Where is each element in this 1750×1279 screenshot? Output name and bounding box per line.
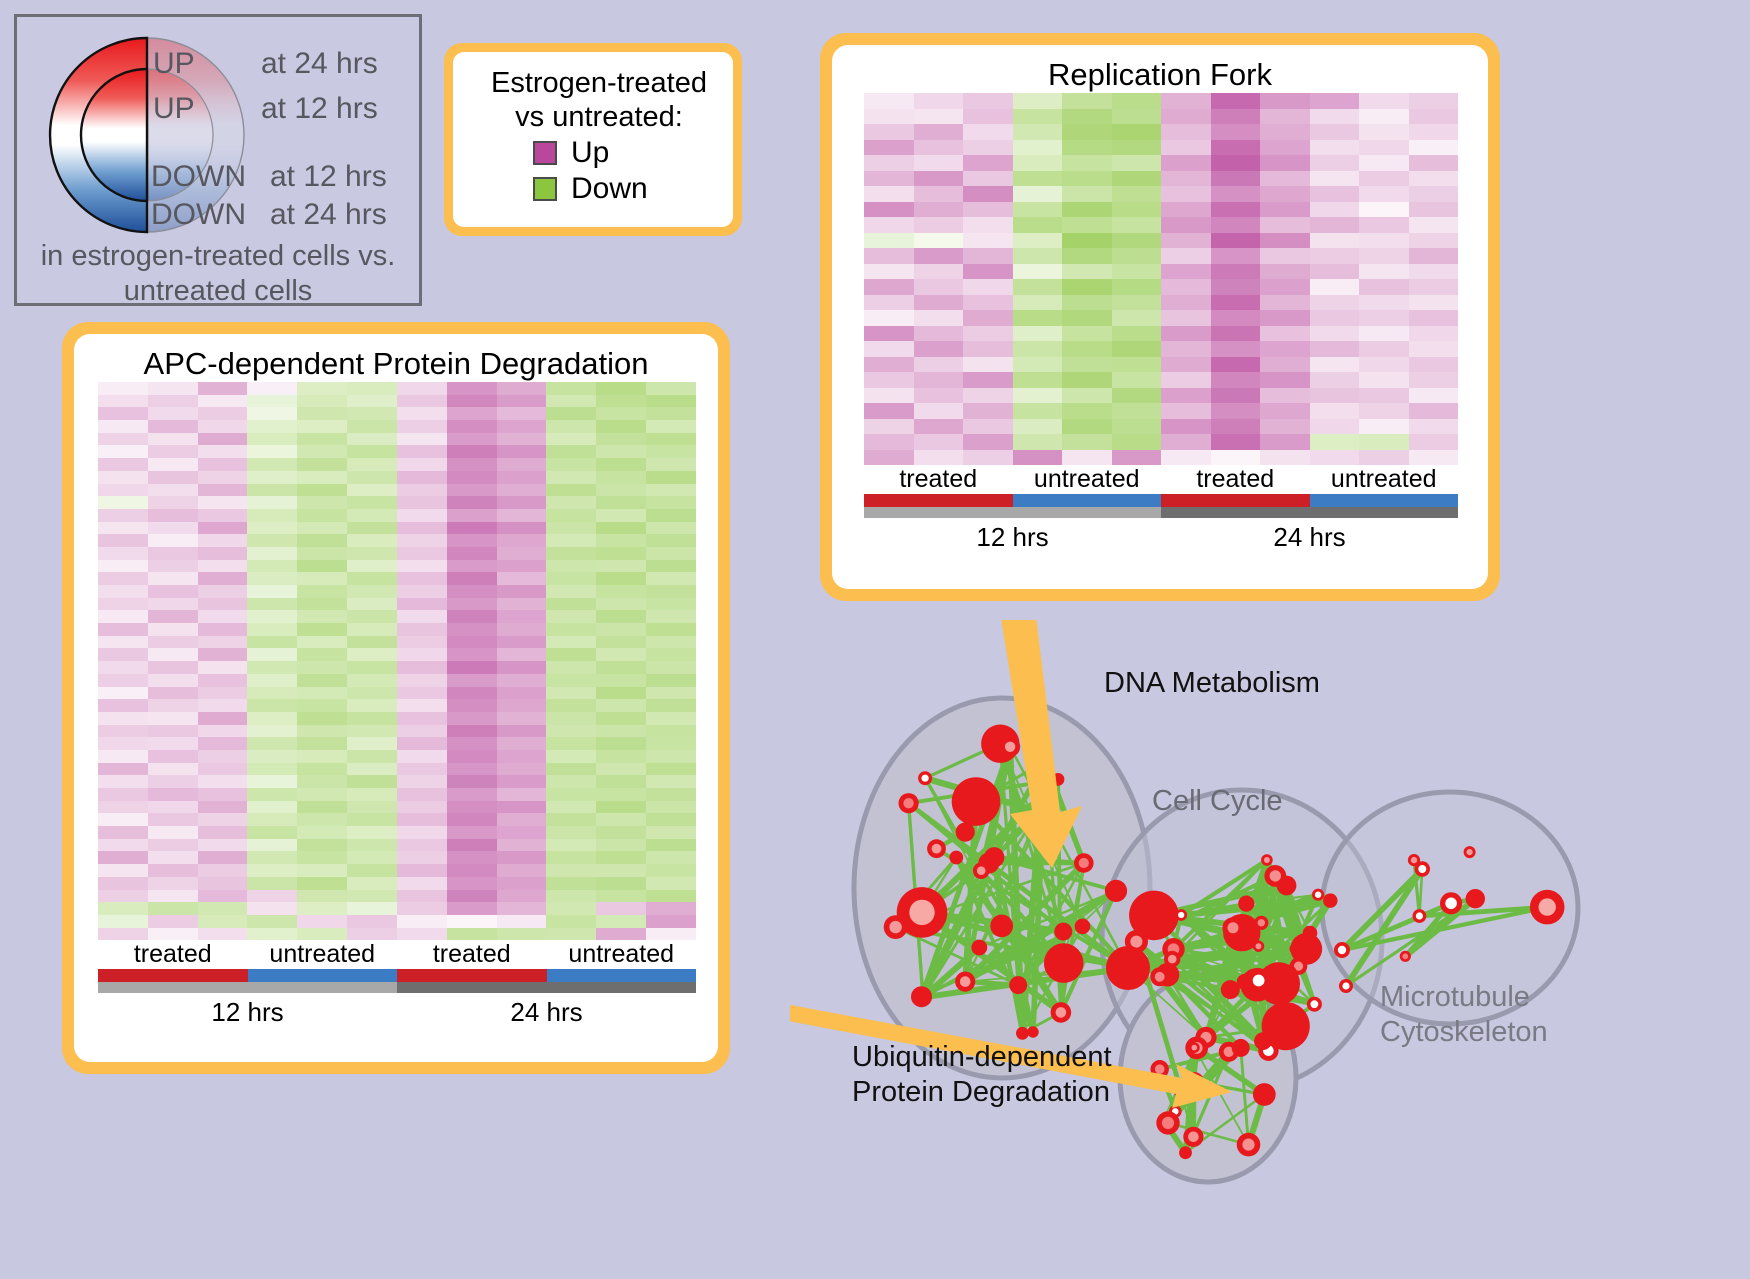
heatmap-cell [646,496,696,509]
heatmap-cell [148,420,198,433]
heatmap-cell [397,687,447,700]
heatmap-cell [347,433,397,446]
network-node[interactable] [1150,967,1169,986]
heatmap-cell [596,623,646,636]
heatmap-cell [864,357,914,373]
heatmap-cell [1359,109,1409,125]
heatmap-cell [297,572,347,585]
heatmap-cell [1359,202,1409,218]
network-node[interactable] [1415,861,1430,876]
heatmap-cell [98,928,148,941]
heatmap-cell [148,433,198,446]
heatmap-cell [98,826,148,839]
network-node[interactable] [1253,941,1264,952]
heatmap-cell [1112,186,1162,202]
heatmap-cell [646,648,696,661]
heatmap-cell [1409,264,1459,280]
network-node[interactable] [1156,1111,1179,1134]
heatmap-cell [1161,295,1211,311]
heatmap-cell [546,433,596,446]
cluster-label-ubiquitin-degradation: Ubiquitin-dependent Protein Degradation [852,1040,1112,1110]
heatmap-cell [1161,109,1211,125]
heatmap-cell [1211,403,1261,419]
heatmap-cell [546,648,596,661]
network-node[interactable] [1106,946,1150,990]
heatmap-cell [397,560,447,573]
network-node[interactable] [1232,1039,1250,1057]
group-label: untreated [248,940,398,969]
heatmap-cell [198,471,248,484]
network-node[interactable] [956,823,975,842]
heatmap-cell [1112,388,1162,404]
heatmap-cell [1260,341,1310,357]
heatmap-cell [347,674,397,687]
heatmap-cell [1310,279,1360,295]
heatmap-cell [148,636,198,649]
network-node[interactable] [1339,979,1353,993]
heatmap-cell [447,471,497,484]
heatmap-cell [546,610,596,623]
network-node[interactable] [990,915,1013,938]
heatmap-cell [1112,202,1162,218]
heatmap-cell [596,382,646,395]
heatmap-cell [447,864,497,877]
heatmap-cell [198,407,248,420]
heatmap-cell [1260,419,1310,435]
heatmap-cell [864,171,914,187]
heatmap-cell [98,674,148,687]
heatmap-cell [347,610,397,623]
network-node[interactable] [1264,865,1286,887]
network-node[interactable] [1175,909,1187,921]
heatmap-cell [1211,264,1261,280]
network-node[interactable] [1189,1042,1200,1053]
heatmap-cell [1359,295,1409,311]
heatmap-cell [397,496,447,509]
heatmap-cell [347,826,397,839]
heatmap-cell [1112,326,1162,342]
heatmap-cell [1161,279,1211,295]
network-node[interactable] [1016,1027,1029,1040]
network-node[interactable] [1237,1133,1261,1157]
heatmap-cell [1211,279,1261,295]
heatmap-cell [247,801,297,814]
heatmap-cell [1062,140,1112,156]
heatmap-cell [297,877,347,890]
heatmap-cell [864,140,914,156]
heatmap-cell [397,826,447,839]
heatmap-cell [148,813,198,826]
heatmap-cell [447,674,497,687]
heatmap-cell [247,661,297,674]
heatmap-cell [646,547,696,560]
heatmap-cell [1062,217,1112,233]
heatmap-cell [864,93,914,109]
heatmap-cell [1260,124,1310,140]
heatmap-cell [497,395,547,408]
network-node[interactable] [918,771,932,785]
network-node[interactable] [899,793,919,813]
heatmap-cell [914,233,964,249]
network-node[interactable] [1054,923,1072,941]
heatmap-cell [148,471,198,484]
heatmap-cell [497,433,547,446]
network-node[interactable] [1009,976,1027,994]
network-node[interactable] [1323,893,1337,907]
heatmap-cell [646,560,696,573]
network-node[interactable] [1164,951,1180,967]
heatmap-cell [963,419,1013,435]
heatmap-cell [963,357,1013,373]
network-node[interactable] [1183,1127,1203,1147]
heatmap-cell [397,395,447,408]
color-key-row-3-label: DOWN [151,198,246,232]
heatmap-cell [1260,388,1310,404]
heatmap-cell [596,687,646,700]
heatmap-cell [1359,171,1409,187]
heatmap-cell [198,737,248,750]
heatmap-cell [1161,93,1211,109]
heatmap-cell [198,915,248,928]
heatmap-cell [1161,186,1211,202]
heatmap-cell [148,928,198,941]
heatmap-cell [98,547,148,560]
network-node[interactable] [1303,926,1318,941]
heatmap-cell [247,420,297,433]
heatmap-cell [546,763,596,776]
heatmap-cell [1161,434,1211,450]
network-node[interactable] [1179,1146,1192,1159]
heatmap-cell [1409,295,1459,311]
heatmap-cell [646,813,696,826]
heatmap-cell [247,534,297,547]
heatmap-cell [646,877,696,890]
heatmap-cell [148,839,198,852]
heatmap-cell [148,458,198,471]
heatmap-cell [497,560,547,573]
heatmap-cell [247,458,297,471]
network-node[interactable] [1221,980,1240,999]
network-node[interactable] [1466,889,1485,908]
network-node[interactable] [1464,846,1476,858]
heatmap-cell [347,801,397,814]
heatmap-cell [397,420,447,433]
heatmap-cell [148,496,198,509]
replication-time-labels: 12 hrs24 hrs [864,518,1458,553]
network-node[interactable] [971,940,987,956]
heatmap-cell [148,915,198,928]
heatmap-cell [1013,155,1063,171]
heatmap-cell [247,382,297,395]
heatmap-cell [1359,264,1409,280]
network-node[interactable] [1254,916,1268,930]
network-node[interactable] [1254,1032,1272,1050]
network-node[interactable] [1334,942,1350,958]
heatmap-cell [148,699,198,712]
heatmap-cell [198,585,248,598]
heatmap-cell [546,915,596,928]
heatmap-cell [397,890,447,903]
heatmap-cell [497,750,547,763]
heatmap-cell [148,509,198,522]
heatmap-cell [646,928,696,941]
heatmap-cell [447,509,497,522]
heatmap-cell [347,471,397,484]
heatmap-cell [596,496,646,509]
network-node[interactable] [1279,965,1297,983]
heatmap-cell [963,450,1013,466]
heatmap-cell [98,395,148,408]
heatmap-cell [546,864,596,877]
heatmap-cell [1409,248,1459,264]
heatmap-cell [297,636,347,649]
network-node[interactable] [1290,943,1301,954]
heatmap-cell [1161,233,1211,249]
heatmap-cell [914,419,964,435]
network-node[interactable] [1307,997,1322,1012]
heatmap-cell [98,788,148,801]
heatmap-cell [297,712,347,725]
network-node[interactable] [1105,880,1127,902]
heatmap-cell [497,648,547,661]
heatmap-cell [347,496,397,509]
heatmap-cell [98,775,148,788]
heatmap-cell [247,636,297,649]
color-key-row-0-label: UP [153,47,195,81]
heatmap-cell [596,750,646,763]
heatmap-cell [1112,140,1162,156]
heatmap-cell [297,496,347,509]
heatmap-cell [447,534,497,547]
heatmap-cell [447,750,497,763]
heatmap-cell [1112,357,1162,373]
heatmap-cell [1211,326,1261,342]
heatmap-cell [963,434,1013,450]
heatmap-cell [198,395,248,408]
replication-group-bars [864,494,1458,507]
heatmap-cell [1013,388,1063,404]
heatmap-cell [1062,450,1112,466]
network-node[interactable] [884,915,908,939]
heatmap-cell [1260,295,1310,311]
heatmap-cell [247,509,297,522]
heatmap-cell [1260,372,1310,388]
heatmap-cell [646,407,696,420]
heatmap-cell [1310,388,1360,404]
heatmap-cell [646,801,696,814]
heatmap-cell [98,763,148,776]
heatmap-cell [198,458,248,471]
heatmap-cell [963,124,1013,140]
heatmap-cell [98,484,148,497]
heatmap-cell [1310,450,1360,466]
heatmap-cell [546,826,596,839]
network-node[interactable] [1000,737,1020,757]
network-node[interactable] [1222,917,1243,938]
heatmap-cell [98,864,148,877]
network-node[interactable] [1400,951,1411,962]
network-node[interactable] [955,972,975,992]
heatmap-cell [646,851,696,864]
heatmap-cell [447,382,497,395]
network-node[interactable] [1074,853,1094,873]
heatmap-cell [546,496,596,509]
network-node[interactable] [949,851,963,865]
legend-item-down: Down [533,172,723,206]
heatmap-cell [148,610,198,623]
heatmap-cell [1310,233,1360,249]
network-node[interactable] [1413,909,1427,923]
heatmap-cell [397,661,447,674]
heatmap-cell [347,382,397,395]
network-node[interactable] [927,839,946,858]
heatmap-cell [98,420,148,433]
heatmap-cell [1211,419,1261,435]
heatmap-cell [646,534,696,547]
color-key-row-3-time: at 24 hrs [270,198,387,232]
network-node[interactable] [1261,854,1273,866]
heatmap-cell [546,813,596,826]
heatmap-cell [963,186,1013,202]
heatmap-cell [247,890,297,903]
heatmap-cell [98,382,148,395]
heatmap-cell [1112,403,1162,419]
heatmap-cell [198,445,248,458]
heatmap-cell [397,699,447,712]
cluster-label-microtubule-cytoskeleton: Microtubule Cytoskeleton [1380,980,1548,1050]
heatmap-cell [148,572,198,585]
network-node[interactable] [1253,1083,1276,1106]
heatmap-cell [864,233,914,249]
heatmap-cell [1359,403,1409,419]
heatmap-cell [963,372,1013,388]
heatmap-cell [148,623,198,636]
down-color-swatch [533,177,557,201]
heatmap-cell [98,712,148,725]
heatmap-cell [98,890,148,903]
heatmap-cell [1013,264,1063,280]
heatmap-cell [98,813,148,826]
heatmap-cell [397,522,447,535]
heatmap-cell [914,403,964,419]
heatmap-cell [1211,372,1261,388]
network-node[interactable] [1530,890,1565,925]
heatmap-cell [397,851,447,864]
heatmap-cell [914,140,964,156]
heatmap-replication-fork [864,93,1458,465]
heatmap-cell [1359,217,1409,233]
network-node[interactable] [1312,889,1324,901]
heatmap-cell [447,788,497,801]
heatmap-cell [497,890,547,903]
heatmap-cell [497,661,547,674]
group-color-bar [1161,494,1310,507]
heatmap-cell [646,864,696,877]
heatmap-cell [914,357,964,373]
network-node[interactable] [952,777,1001,826]
time-label: 12 hrs [864,518,1161,553]
heatmap-cell [914,279,964,295]
network-node[interactable] [1075,919,1091,935]
heatmap-cell [397,877,447,890]
heatmap-cell [1310,372,1360,388]
heatmap-cell [546,661,596,674]
network-node[interactable] [1027,1026,1038,1037]
heatmap-cell [546,737,596,750]
heatmap-cell [1359,388,1409,404]
heatmap-cell [447,407,497,420]
heatmap-cell [1062,357,1112,373]
network-node[interactable] [1238,896,1254,912]
heatmap-cell [497,522,547,535]
heatmap-cell [546,572,596,585]
heatmap-cell [914,341,964,357]
heatmap-cell [297,522,347,535]
heatmap-cell [546,928,596,941]
heatmap-cell [1260,264,1310,280]
heatmap-cell [447,699,497,712]
heatmap-cell [148,902,198,915]
heatmap-cell [198,851,248,864]
heatmap-cell [914,388,964,404]
heatmap-cell [1260,109,1310,125]
heatmap-cell [148,407,198,420]
network-node[interactable] [911,986,932,1007]
heatmap-cell [1112,450,1162,466]
network-node[interactable] [1044,943,1084,983]
heatmap-cell [864,388,914,404]
pathway-network-diagram [790,620,1750,1279]
heatmap-cell [247,877,297,890]
heatmap-cell [397,484,447,497]
heatmap-cell [864,450,914,466]
heatmap-cell [397,572,447,585]
heatmap-cell [1359,279,1409,295]
heatmap-cell [347,572,397,585]
heatmap-cell [447,902,497,915]
heatmap-cell [1112,419,1162,435]
heatmap-cell [546,902,596,915]
heatmap-cell [546,471,596,484]
heatmap-cell [1409,233,1459,249]
network-node[interactable] [1051,1002,1072,1023]
network-node[interactable] [1440,892,1462,914]
heatmap-cell [347,864,397,877]
heatmap-cell [1062,155,1112,171]
heatmap-cell [646,775,696,788]
heatmap-cell [1310,140,1360,156]
heatmap-cell [397,382,447,395]
heatmap-cell [963,93,1013,109]
network-node[interactable] [973,862,990,879]
heatmap-cell [98,737,148,750]
group-color-bar [1310,494,1459,507]
heatmap-cell [1062,295,1112,311]
heatmap-cell [397,471,447,484]
heatmap-cell [198,610,248,623]
heatmap-cell [1409,124,1459,140]
heatmap-cell [864,202,914,218]
heatmap-cell [148,750,198,763]
heatmap-cell [1161,124,1211,140]
heatmap-cell [1409,217,1459,233]
heatmap-cell [98,496,148,509]
heatmap-cell [1013,140,1063,156]
heatmap-cell [148,395,198,408]
heatmap-cell [98,750,148,763]
cluster-label-dna-metabolism: DNA Metabolism [1104,666,1320,701]
heatmap-cell [1211,357,1261,373]
